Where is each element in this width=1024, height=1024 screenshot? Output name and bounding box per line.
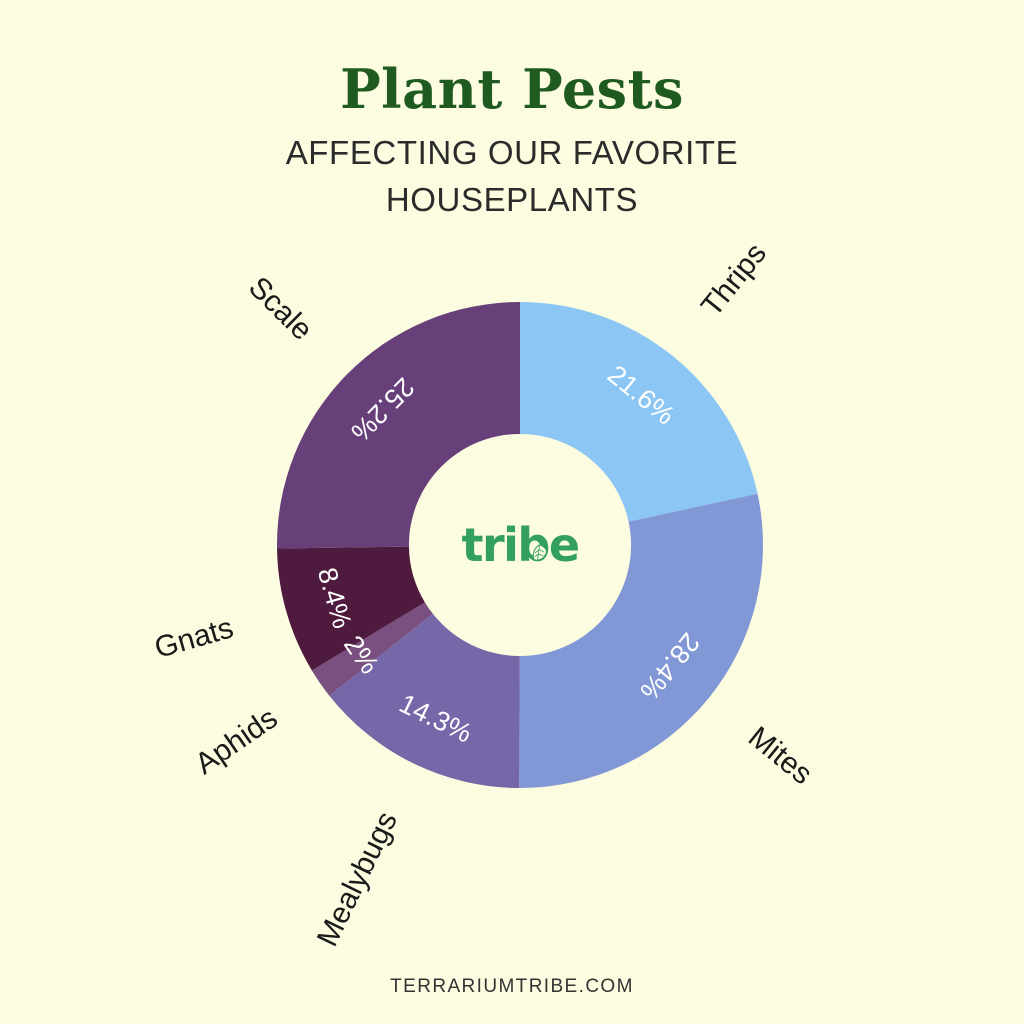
slice-label-aphids: Aphids	[189, 702, 283, 781]
footer-website: TERRARIUMTRIBE.COM	[390, 976, 634, 997]
slice-label-thrips: Thrips	[695, 237, 773, 323]
slice-label-mites: Mites	[742, 720, 818, 791]
slice-label-gnats: Gnats	[151, 611, 237, 665]
footer: TERRARIUMTRIBE.COM	[0, 976, 1024, 998]
slice-label-mealybugs: Mealybugs	[311, 807, 404, 952]
donut-slice-mites[interactable]	[519, 494, 763, 788]
slice-label-scale: Scale	[242, 271, 319, 347]
donut-chart: 21.6%28.4%14.3%2%8.4%25.2% ThripsMitesMe…	[0, 0, 1024, 1024]
donut-chart-svg: 21.6%28.4%14.3%2%8.4%25.2% ThripsMitesMe…	[0, 0, 1024, 1024]
donut-slice-scale[interactable]	[277, 302, 520, 548]
donut-slices	[277, 302, 763, 788]
